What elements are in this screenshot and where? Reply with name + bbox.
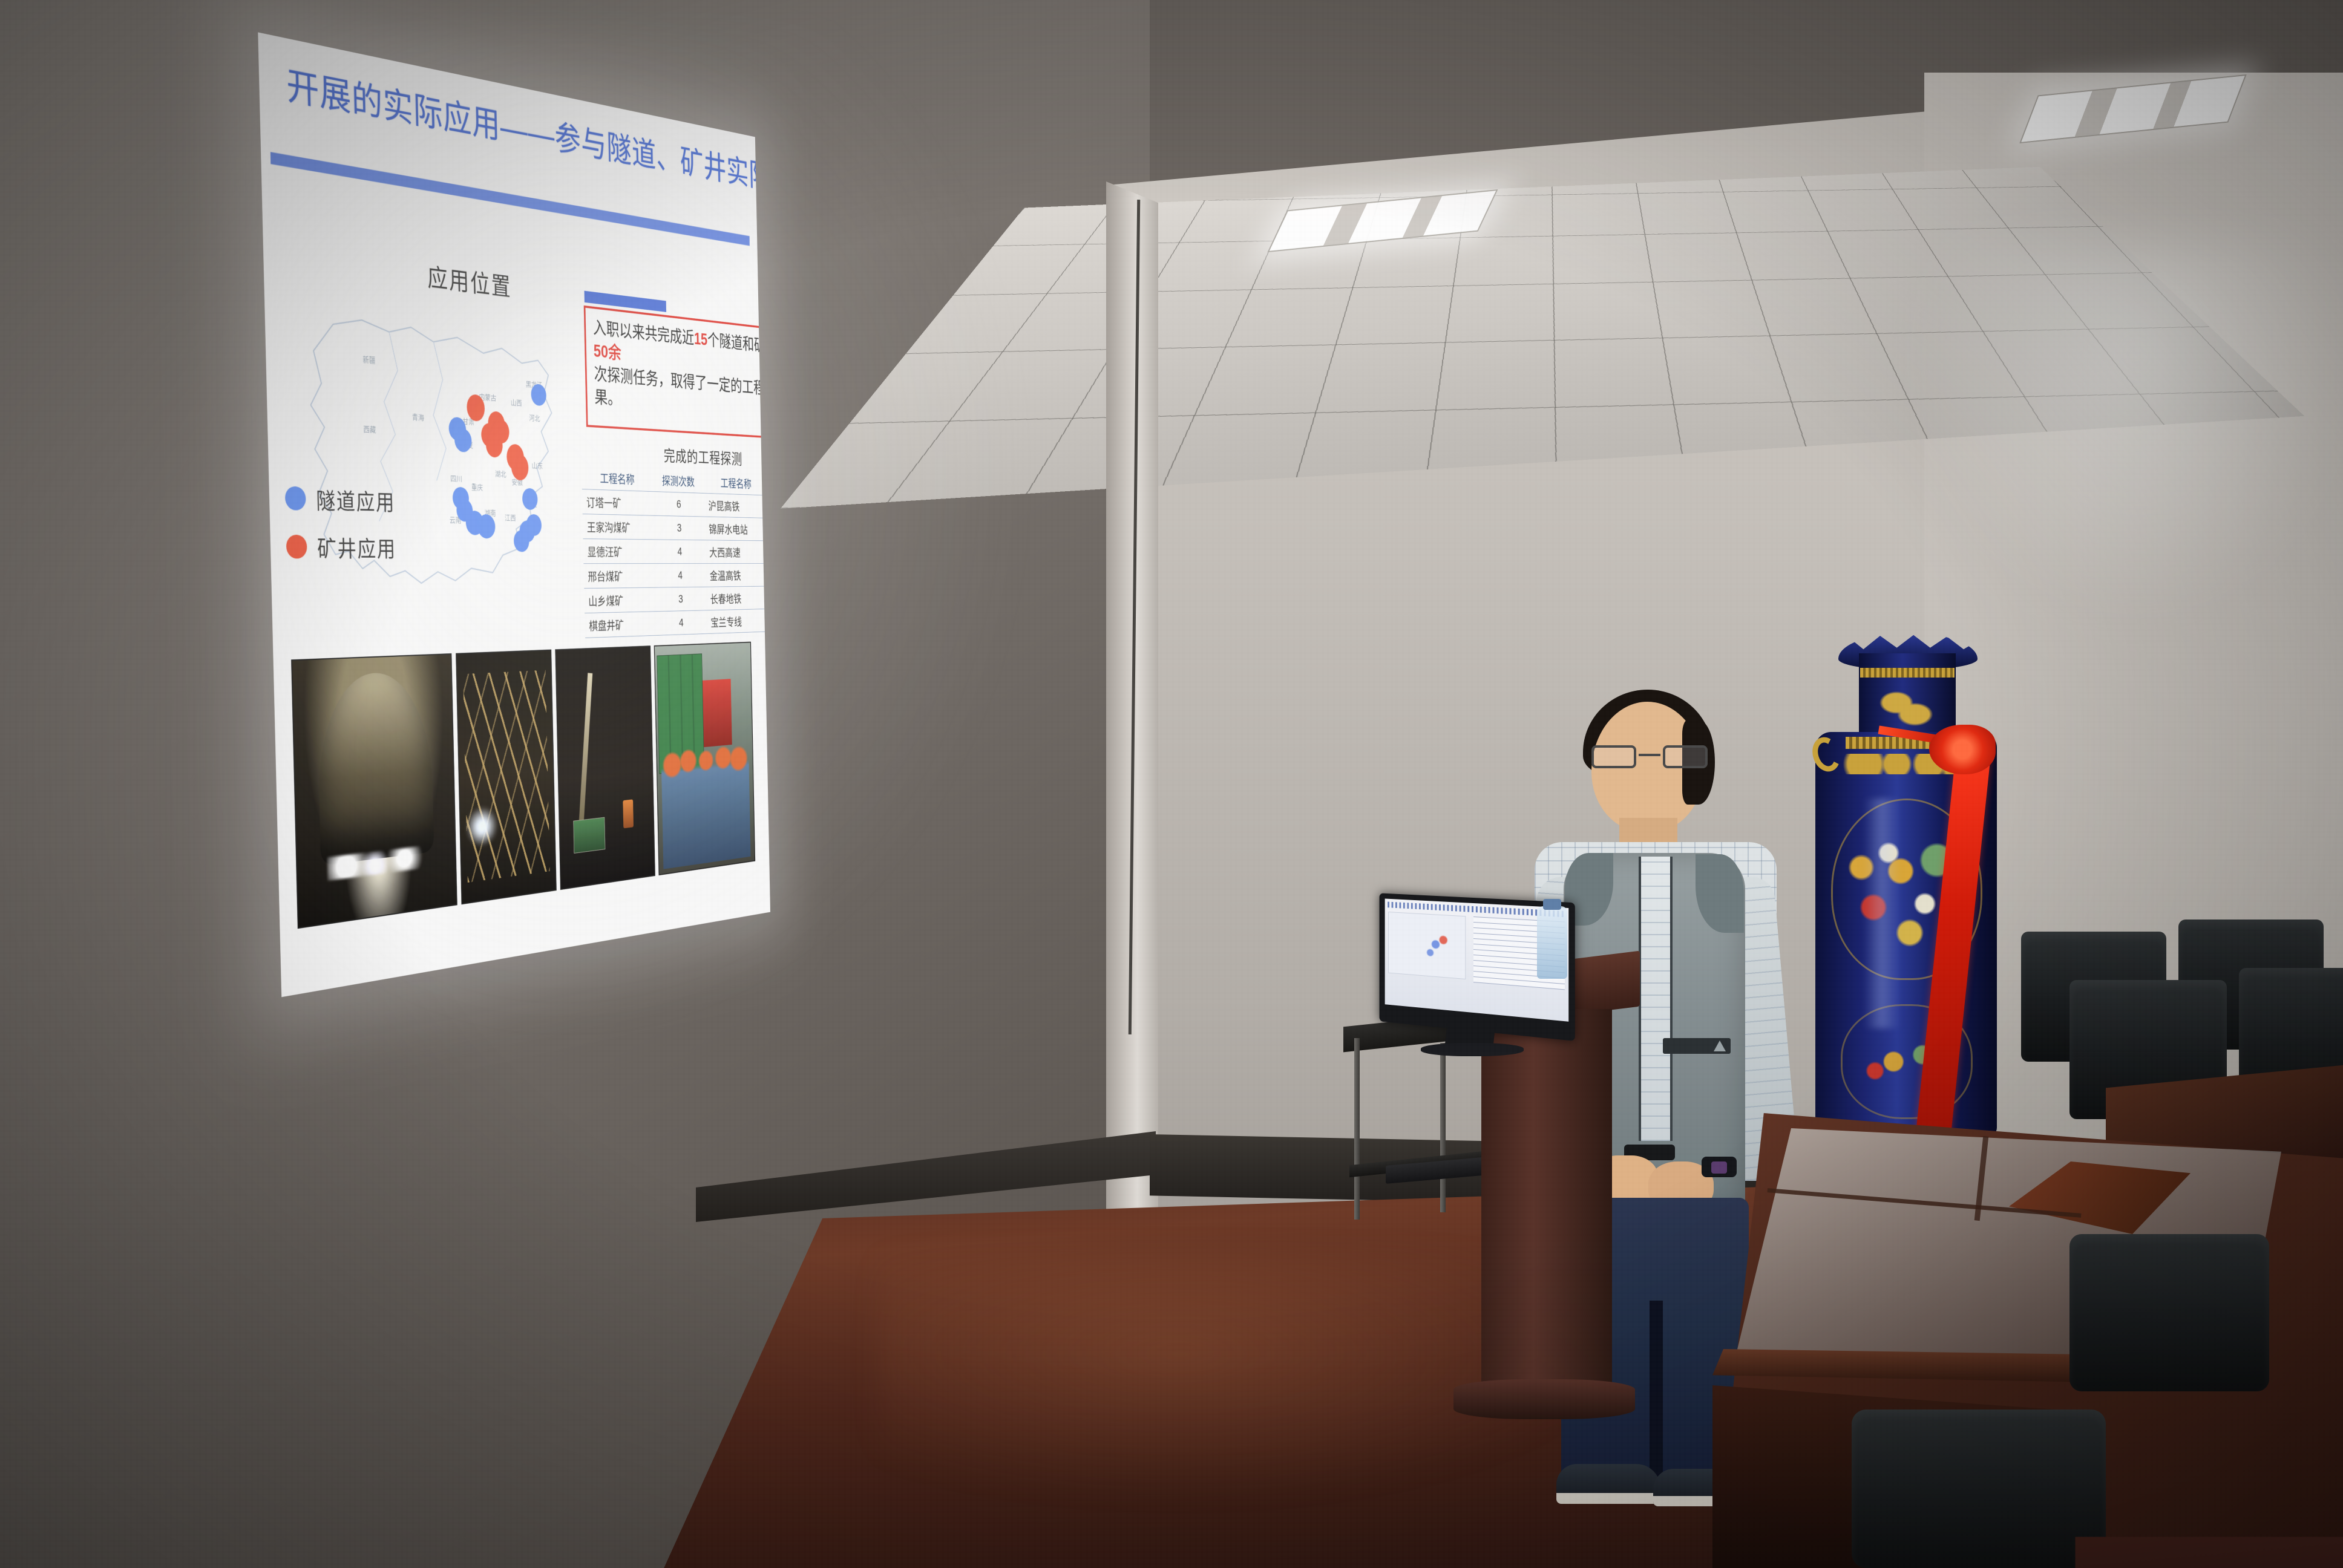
left-shoe (1556, 1464, 1660, 1504)
summary-callout: 入职以来共完成近15个隧道和矿井的50余 次探测任务，取得了一定的工程应用效果。 (584, 305, 770, 440)
monitor-foot (1421, 1043, 1524, 1056)
cell-project-name: 山乡煤矿 (584, 587, 654, 613)
water-bottle[interactable] (1537, 906, 1567, 979)
scaffold-photo (456, 650, 557, 905)
cell-project-name: 长春地铁 (706, 586, 769, 610)
cell-project-name: 邢台煤矿 (583, 564, 654, 589)
cell-survey-count: 6 (652, 491, 705, 517)
cell-survey-count: 3 (652, 515, 705, 540)
conference-room-scene: 开展的实际应用——参与隧道、矿井实际探测任务 应用位置 新疆西藏 青海甘肃 宁夏… (0, 0, 2343, 1568)
vase-gold-band-top (1860, 668, 1955, 678)
conference-chair[interactable] (1852, 1410, 2106, 1568)
cell-survey-count: 2 (767, 518, 770, 541)
porcelain-floor-vase (1803, 617, 2015, 1137)
legend-label-mine: 矿井应用 (317, 531, 397, 563)
cell-survey-count: 2 (769, 608, 770, 632)
th-count-right: 探测次数 (767, 473, 770, 497)
callout-count-surveys: 50 (594, 341, 609, 361)
red-ribbon-rosette (1929, 725, 1996, 774)
glasses-icon (1591, 745, 1708, 769)
project-table-wrap: 完成的工程探测 工程名称 探测次数 工程名称 探测次数 订塔一矿6沪昆高铁6王家… (581, 438, 770, 638)
cell-project-name: 王家沟煤矿 (583, 514, 653, 540)
cell-project-name: 棋盘井矿 (585, 612, 655, 638)
cell-project-name: 宝兰专线 (707, 609, 770, 633)
table-row: 邢台煤矿4金温高铁2 (583, 563, 770, 588)
cell-project-name: 沪昆高铁 (704, 493, 767, 518)
cell-survey-count: 4 (654, 563, 706, 587)
svg-text:青海: 青海 (412, 413, 424, 422)
cell-project-name: 锦屏水电站 (705, 517, 768, 541)
legend-dot-blue-icon (285, 486, 306, 510)
wristwatch-face (1711, 1161, 1727, 1174)
tunnel-face-photo (291, 653, 457, 929)
vase-gold-calligraphy (1870, 685, 1936, 730)
legend-item-tunnel: 隧道应用 (284, 482, 395, 517)
cell-survey-count: 3 (654, 587, 707, 612)
map-legend: 隧道应用 矿井应用 (284, 482, 396, 578)
table-row: 显德汪矿4大西高速4 (583, 539, 770, 564)
mine-shaft-photo (555, 645, 655, 890)
svg-text:河北: 河北 (529, 414, 540, 422)
monitor-slide-map (1388, 912, 1466, 979)
cell-project-name: 金温高铁 (706, 563, 769, 587)
callout-line1-mid: 个隧道和矿井的 (707, 330, 770, 357)
callout-line1-post: 余 (608, 342, 621, 363)
lectern-base (1453, 1379, 1635, 1419)
table-row: 王家沟煤矿3锦屏水电站2 (583, 514, 770, 541)
svg-text:湖北: 湖北 (495, 469, 507, 479)
svg-text:新疆: 新疆 (362, 354, 375, 365)
cell-survey-count: 6 (767, 495, 770, 519)
slide-surface: 开展的实际应用——参与隧道、矿井实际探测任务 应用位置 新疆西藏 青海甘肃 宁夏… (258, 32, 770, 997)
conference-chair[interactable] (2069, 1234, 2269, 1391)
callout-count-projects: 15 (694, 329, 708, 349)
svg-text:山西: 山西 (511, 399, 522, 408)
legend-dot-red-icon (286, 534, 307, 558)
vase-highlight (1864, 799, 1900, 1028)
legend-item-mine: 矿井应用 (286, 530, 396, 563)
side-table-leg (1354, 1038, 1360, 1220)
vest-opening (1639, 857, 1673, 1141)
svg-text:四川: 四川 (450, 475, 462, 483)
lectern-body (1481, 1009, 1612, 1384)
project-table: 工程名称 探测次数 工程名称 探测次数 订塔一矿6沪昆高铁6王家沟煤矿3锦屏水电… (582, 465, 770, 638)
svg-text:江西: 江西 (505, 514, 516, 522)
th-count-left: 探测次数 (652, 468, 705, 493)
th-name-left: 工程名称 (582, 465, 652, 491)
side-table-leg (1440, 1043, 1446, 1212)
th-name-right: 工程名称 (704, 470, 767, 495)
cell-project-name: 大西高速 (706, 540, 768, 564)
projected-slide[interactable]: 开展的实际应用——参与隧道、矿井实际探测任务 应用位置 新疆西藏 青海甘肃 宁夏… (266, 33, 968, 1001)
cell-survey-count: 4 (653, 540, 706, 564)
legend-label-tunnel: 隧道应用 (316, 482, 396, 516)
cell-survey-count: 4 (655, 610, 707, 636)
svg-text:西藏: 西藏 (363, 425, 376, 434)
svg-text:山东: 山东 (532, 462, 543, 470)
cell-survey-count: 2 (768, 563, 770, 586)
cell-project-name: 显德汪矿 (583, 539, 654, 564)
trouser-gap (1650, 1301, 1663, 1482)
photo-strip (291, 641, 759, 929)
water-bottle-cap (1543, 899, 1561, 910)
cell-survey-count: 4 (768, 541, 770, 564)
cell-survey-count: 2 (769, 586, 770, 609)
crew-photo (654, 642, 755, 875)
table-row: 棋盘井矿4宝兰专线2 (585, 608, 770, 638)
cell-project-name: 订塔一矿 (582, 489, 653, 516)
svg-text:重庆: 重庆 (471, 483, 483, 492)
